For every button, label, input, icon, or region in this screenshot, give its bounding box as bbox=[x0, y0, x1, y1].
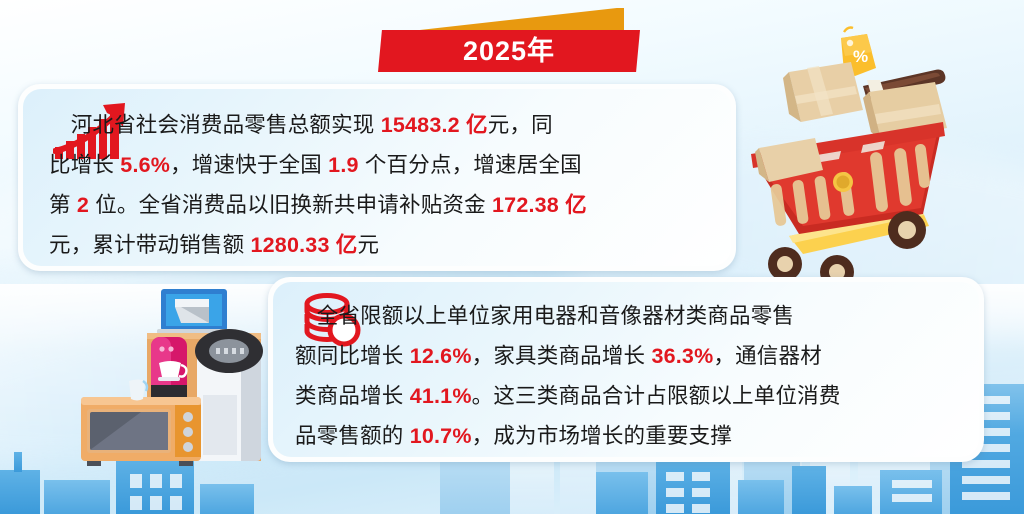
body-text: 。这三类商品合计占限额以上单位消费 bbox=[472, 384, 841, 408]
body-text: 第 bbox=[49, 193, 77, 217]
highlight-number: 36.3% bbox=[651, 344, 713, 368]
banner-red-ribbon: 2025年 bbox=[378, 30, 640, 72]
highlight-number: 12.6% bbox=[410, 344, 472, 368]
body-text: 品零售额的 bbox=[295, 424, 410, 448]
body-text: 个百分点，增速居全国 bbox=[359, 153, 582, 177]
body-text: ，通信器材 bbox=[713, 344, 822, 368]
highlight-number: 5.6% bbox=[120, 153, 170, 177]
body-text: ，增速快于全国 bbox=[170, 153, 328, 177]
body-text: 比增长 bbox=[49, 153, 120, 177]
card2-line: 品零售额的 10.7%，成为市场增长的重要支撑 bbox=[295, 416, 953, 456]
highlight-number: 41.1% bbox=[410, 384, 472, 408]
body-text: 元 bbox=[357, 233, 379, 257]
card2-line: 额同比增长 12.6%，家具类商品增长 36.3%，通信器材 bbox=[295, 336, 953, 376]
highlight-number: 10.7% bbox=[410, 424, 472, 448]
highlight-number: 2 bbox=[77, 193, 89, 217]
card1-line: 第 2 位。全省消费品以旧换新共申请补贴资金 172.38 亿 bbox=[49, 185, 705, 225]
body-text: 元，累计带动销售额 bbox=[49, 233, 250, 257]
card1-text-block: 河北省社会消费品零售总额实现 15483.2 亿元，同 比增长 5.6%，增速快… bbox=[23, 89, 731, 265]
card1-line: 比增长 5.6%，增速快于全国 1.9 个百分点，增速居全国 bbox=[49, 145, 705, 185]
card1-line: 河北省社会消费品零售总额实现 15483.2 亿元，同 bbox=[49, 105, 705, 145]
card-inner-surface: 河北省社会消费品零售总额实现 15483.2 亿元，同 比增长 5.6%，增速快… bbox=[23, 89, 731, 266]
card-inner-surface: 全省限额以上单位家用电器和音像器材类商品零售 额同比增长 12.6%，家具类商品… bbox=[273, 282, 979, 457]
parcel-box bbox=[783, 62, 863, 122]
body-text: 额同比增长 bbox=[295, 344, 410, 368]
body-text: ，家具类商品增长 bbox=[472, 344, 652, 368]
statistics-card-category-growth: 全省限额以上单位家用电器和音像器材类商品零售 额同比增长 12.6%，家具类商品… bbox=[268, 277, 984, 462]
card2-text-block: 全省限额以上单位家用电器和音像器材类商品零售 额同比增长 12.6%，家具类商品… bbox=[273, 282, 979, 456]
body-text: 元，同 bbox=[488, 113, 553, 137]
laptop-icon bbox=[157, 289, 233, 334]
banner-year-label: 2025年 bbox=[463, 38, 555, 65]
body-text: 位。全省消费品以旧换新共申请补贴资金 bbox=[89, 193, 492, 217]
highlight-number: 1.9 bbox=[328, 153, 359, 177]
card1-line: 元，累计带动销售额 1280.33 亿元 bbox=[49, 225, 705, 265]
body-text: 全省限额以上单位家用电器和音像器材类商品零售 bbox=[295, 304, 794, 328]
card2-line: 全省限额以上单位家用电器和音像器材类商品零售 bbox=[295, 296, 953, 336]
air-purifier-icon bbox=[195, 329, 263, 461]
body-text: 类商品增长 bbox=[295, 384, 410, 408]
shopping-cart-with-parcels-illustration: % bbox=[745, 2, 1024, 287]
highlight-number: 1280.33 亿 bbox=[250, 233, 357, 257]
microwave-oven-icon bbox=[81, 397, 201, 466]
statistics-card-retail-total: 河北省社会消费品零售总额实现 15483.2 亿元，同 比增长 5.6%，增速快… bbox=[18, 84, 736, 271]
highlight-number: 15483.2 亿 bbox=[381, 113, 488, 137]
body-text: ，成为市场增长的重要支撑 bbox=[472, 424, 732, 448]
svg-text:%: % bbox=[853, 47, 868, 66]
card2-line: 类商品增长 41.1%。这三类商品合计占限额以上单位消费 bbox=[295, 376, 953, 416]
body-text: 河北省社会消费品零售总额实现 bbox=[49, 113, 381, 137]
home-appliances-illustration bbox=[63, 277, 298, 477]
year-banner: 2025年 bbox=[378, 8, 640, 72]
highlight-number: 172.38 亿 bbox=[492, 193, 587, 217]
infographic-canvas: 2025年 % bbox=[0, 0, 1024, 514]
